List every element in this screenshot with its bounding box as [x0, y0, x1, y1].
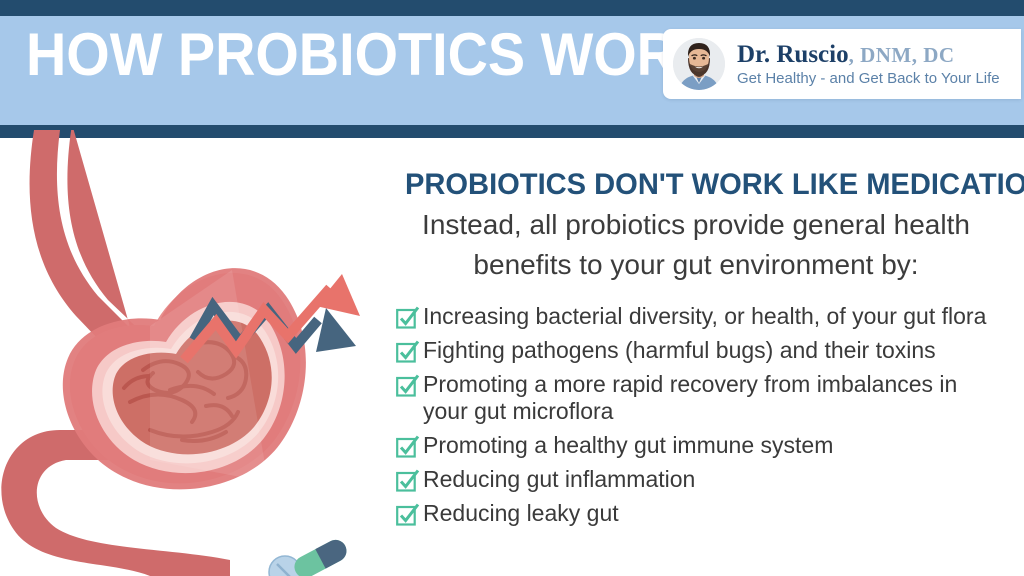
brand-tagline: Get Healthy - and Get Back to Your Life [737, 71, 1000, 86]
list-item: Reducing leaky gut [396, 500, 1006, 527]
checkbox-checked-icon [396, 435, 419, 458]
brand-logo-text: Dr. Ruscio, DNM, DC Get Healthy - and Ge… [737, 42, 1000, 86]
infographic-canvas: HOW PROBIOTICS WORK [0, 0, 1024, 576]
subtitle-line-2: benefits to your gut environment by: [396, 247, 996, 282]
brand-name-primary: Dr. Ruscio [737, 41, 849, 68]
list-item: Promoting a healthy gut immune system [396, 432, 1006, 459]
capsule-pill [291, 536, 351, 576]
list-item-label: Increasing bacterial diversity, or healt… [423, 303, 986, 330]
brand-logo-card[interactable]: Dr. Ruscio, DNM, DC Get Healthy - and Ge… [663, 29, 1021, 99]
benefits-list: Increasing bacterial diversity, or healt… [396, 303, 1006, 534]
pill-capsule-group [269, 536, 350, 576]
main-copy-block: PROBIOTICS DON'T WORK LIKE MEDICATIONS. … [396, 168, 996, 282]
subtitle-line-1: Instead, all probiotics provide general … [396, 207, 996, 242]
list-item-label: Promoting a more rapid recovery from imb… [423, 371, 1006, 425]
list-item-label: Reducing gut inflammation [423, 466, 695, 493]
list-item: Promoting a more rapid recovery from imb… [396, 371, 1006, 425]
brand-name: Dr. Ruscio, DNM, DC [737, 42, 1000, 67]
list-item: Increasing bacterial diversity, or healt… [396, 303, 1006, 330]
checkbox-checked-icon [396, 374, 419, 397]
list-item-label: Fighting pathogens (harmful bugs) and th… [423, 337, 936, 364]
list-item-label: Reducing leaky gut [423, 500, 619, 527]
checkbox-checked-icon [396, 503, 419, 526]
list-item-label: Promoting a healthy gut immune system [423, 432, 833, 459]
top-accent-bar [0, 0, 1024, 16]
checkbox-checked-icon [396, 340, 419, 363]
stomach-digestive-illustration [0, 130, 400, 576]
brand-credentials: , DNM, DC [849, 43, 955, 67]
checkbox-checked-icon [396, 306, 419, 329]
list-item: Fighting pathogens (harmful bugs) and th… [396, 337, 1006, 364]
checkbox-checked-icon [396, 469, 419, 492]
list-item: Reducing gut inflammation [396, 466, 1006, 493]
doctor-portrait-avatar [673, 38, 725, 90]
lead-headline: PROBIOTICS DON'T WORK LIKE MEDICATIONS. [405, 168, 987, 202]
page-title: HOW PROBIOTICS WORK [26, 24, 717, 86]
